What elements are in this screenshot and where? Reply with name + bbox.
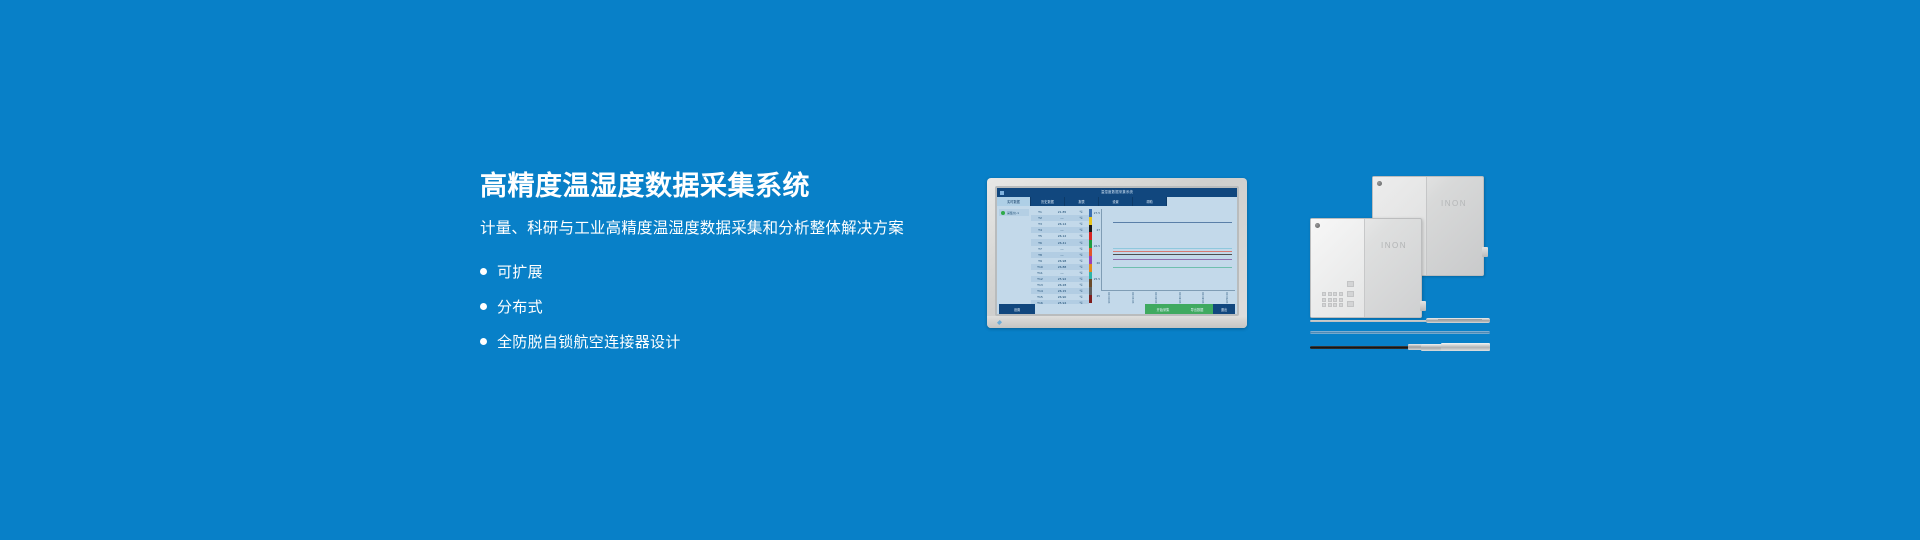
cell-channel: T5 — [1031, 234, 1049, 238]
chart-y-tick-label: 27 — [1096, 228, 1100, 232]
cell-channel: T4 — [1031, 228, 1049, 232]
list-item: 可扩展 — [480, 256, 950, 286]
terminal-cell — [1333, 303, 1337, 307]
cell-value: 26.14 — [1049, 222, 1075, 226]
panel-pc-monitor: 温湿度数据采集系统 实时数据 历史数据 报表 设置 帮助 采集仪-1 — [987, 178, 1247, 328]
terminal-cell — [1328, 303, 1332, 307]
cell-unit: ℃ — [1075, 228, 1087, 232]
port-cell — [1347, 301, 1354, 307]
chart-series-line — [1113, 251, 1233, 252]
cell-channel: T13 — [1031, 283, 1049, 287]
screen-bottom-toolbar: 设置 开始采集 导出数据 退出 — [997, 304, 1237, 314]
chart-y-tick-label: 25 — [1096, 294, 1100, 298]
cell-unit: ℃ — [1075, 234, 1087, 238]
screw-icon — [1315, 223, 1320, 228]
cell-unit: ℃ — [1075, 253, 1087, 257]
feature-label: 全防脱自锁航空连接器设计 — [497, 331, 681, 352]
cell-unit: ℃ — [1075, 271, 1087, 275]
cell-channel: T15 — [1031, 295, 1049, 299]
brand-label: INON — [1381, 241, 1407, 250]
connector-nut — [1421, 344, 1443, 351]
toolbar-spacer — [1035, 304, 1145, 314]
chart-y-tick-label: 25.5 — [1094, 277, 1100, 281]
terminal-cell — [1322, 298, 1326, 302]
cell-value: 26.28 — [1049, 283, 1075, 287]
terminal-cell — [1333, 298, 1337, 302]
status-dot-icon — [1001, 211, 1005, 215]
channel-readout-table: T121.85℃T2---℃T326.14℃T4---℃T526.12℃T626… — [1031, 206, 1089, 304]
cable-ferrule — [1408, 344, 1422, 350]
page-title: 高精度温湿度数据采集系统 — [480, 172, 950, 202]
tab-settings[interactable]: 设置 — [1099, 197, 1133, 206]
cell-unit: ℃ — [1075, 241, 1087, 245]
bullet-dot-icon — [480, 303, 487, 310]
connector-icon — [1482, 247, 1488, 257]
cell-channel: T1 — [1031, 210, 1049, 214]
cell-unit: ℃ — [1075, 265, 1087, 269]
start-acquisition-button[interactable]: 开始采集 — [1145, 304, 1181, 314]
cell-value: 26.15 — [1049, 289, 1075, 293]
cable — [1310, 346, 1412, 349]
screen-title: 温湿度数据采集系统 — [997, 188, 1237, 197]
terminal-cell — [1322, 292, 1326, 296]
feature-list: 可扩展 分布式 全防脱自锁航空连接器设计 — [480, 256, 950, 356]
port-column — [1347, 281, 1354, 307]
chart-x-tick-label: 10:40:00 — [1203, 292, 1206, 304]
screen-titlebar: 温湿度数据采集系统 — [997, 188, 1237, 197]
enclosure-front-panel — [1311, 219, 1365, 317]
cell-channel: T6 — [1031, 241, 1049, 245]
cell-channel: T9 — [1031, 259, 1049, 263]
stainless-temperature-probe — [1310, 318, 1490, 323]
cell-channel: T12 — [1031, 277, 1049, 281]
chart-series-line — [1113, 259, 1233, 260]
chart-plot-area — [1101, 209, 1235, 291]
connector-icon — [1420, 301, 1426, 311]
cell-value: --- — [1049, 216, 1075, 220]
feature-label: 可扩展 — [497, 261, 543, 282]
chart-series-line — [1113, 248, 1233, 249]
terminal-cell — [1339, 292, 1343, 296]
chart-series-line — [1113, 254, 1233, 255]
sidebar-item-collector-1[interactable]: 采集仪-1 — [999, 209, 1029, 216]
screw-icon — [1377, 181, 1382, 186]
page-subtitle: 计量、科研与工业高精度温湿度数据采集和分析整体解决方案 — [480, 220, 950, 239]
cell-unit: ℃ — [1075, 259, 1087, 263]
chart-x-axis: 10:00:0010:10:0010:20:0010:30:0010:40:00… — [1101, 291, 1235, 304]
screen-body: 采集仪-1 T121.85℃T2---℃T326.14℃T4---℃T526.1… — [997, 206, 1237, 304]
cell-value: 21.85 — [1049, 210, 1075, 214]
chart-x-tick-label: 10:50:00 — [1227, 292, 1230, 304]
cell-value: 26.41 — [1049, 241, 1075, 245]
cell-unit: ℃ — [1075, 295, 1087, 299]
cell-value: --- — [1049, 228, 1075, 232]
product-banner: 高精度温湿度数据采集系统 计量、科研与工业高精度温湿度数据采集和分析整体解决方案… — [0, 0, 1920, 540]
bullet-dot-icon — [480, 268, 487, 275]
export-data-button[interactable]: 导出数据 — [1181, 304, 1213, 314]
feature-label: 分布式 — [497, 296, 543, 317]
cell-channel: T2 — [1031, 216, 1049, 220]
tab-realtime-data[interactable]: 实时数据 — [997, 197, 1031, 206]
port-cell — [1347, 281, 1354, 287]
terminal-cell — [1333, 292, 1337, 296]
monitor-bezel: 温湿度数据采集系统 实时数据 历史数据 报表 设置 帮助 采集仪-1 — [995, 186, 1239, 316]
chart-series-line — [1113, 222, 1233, 223]
tab-history-data[interactable]: 历史数据 — [1031, 197, 1065, 206]
data-acquisition-enclosure-front: INON — [1310, 218, 1422, 318]
probe-band — [1438, 319, 1482, 320]
chart-series-line — [1113, 267, 1233, 268]
chart-x-tick-label: 10:00:00 — [1109, 292, 1112, 304]
blue-sensor-cable — [1310, 331, 1490, 334]
settings-button[interactable]: 设置 — [999, 304, 1035, 314]
tab-report[interactable]: 报表 — [1065, 197, 1099, 206]
brand-label: INON — [1441, 199, 1467, 208]
list-item: 全防脱自锁航空连接器设计 — [480, 326, 950, 356]
list-item: 分布式 — [480, 291, 950, 321]
cell-value: 25.92 — [1049, 277, 1075, 281]
cell-value: 26.12 — [1049, 234, 1075, 238]
probe-rod — [1310, 320, 1430, 323]
connector-body — [1441, 343, 1490, 351]
port-cell — [1347, 291, 1354, 297]
monitor-screen: 温湿度数据采集系统 实时数据 历史数据 报表 设置 帮助 采集仪-1 — [997, 188, 1237, 314]
cell-unit: ℃ — [1075, 210, 1087, 214]
sidebar-item-label: 采集仪-1 — [1007, 211, 1019, 215]
cell-channel: T3 — [1031, 222, 1049, 226]
black-cable-with-aviation-connector — [1310, 343, 1490, 351]
banner-text-block: 高精度温湿度数据采集系统 计量、科研与工业高精度温湿度数据采集和分析整体解决方案… — [480, 172, 950, 361]
bullet-dot-icon — [480, 338, 487, 345]
terminal-cell — [1322, 303, 1326, 307]
screen-tabbar: 实时数据 历史数据 报表 设置 帮助 — [997, 197, 1237, 206]
chart-x-tick-label: 10:20:00 — [1156, 292, 1159, 304]
tabbar-filler — [1167, 197, 1237, 206]
chart-x-tick-label: 10:30:00 — [1180, 292, 1183, 304]
terminal-cell — [1328, 298, 1332, 302]
cell-channel: T7 — [1031, 247, 1049, 251]
chart-x-tick-label: 10:10:00 — [1133, 292, 1136, 304]
terminal-cell — [1339, 303, 1343, 307]
cell-channel: T11 — [1031, 271, 1049, 275]
exit-button[interactable]: 退出 — [1213, 304, 1235, 314]
tab-help[interactable]: 帮助 — [1133, 197, 1167, 206]
cell-value: --- — [1049, 247, 1075, 251]
cell-unit: ℃ — [1075, 247, 1087, 251]
cell-value: 26.88 — [1049, 265, 1075, 269]
cell-unit: ℃ — [1075, 222, 1087, 226]
chart-y-axis: 27.52726.52625.525 — [1092, 209, 1101, 304]
cell-value: --- — [1049, 253, 1075, 257]
cell-channel: T8 — [1031, 253, 1049, 257]
cell-value: 26.98 — [1049, 259, 1075, 263]
terminal-cell — [1328, 292, 1332, 296]
chart-y-tick-label: 26.5 — [1094, 244, 1100, 248]
cell-channel: T10 — [1031, 265, 1049, 269]
brand-logo-icon — [997, 320, 1002, 325]
cell-unit: ℃ — [1075, 283, 1087, 287]
cell-unit: ℃ — [1075, 277, 1087, 281]
device-tree-sidebar: 采集仪-1 — [997, 206, 1031, 304]
cell-unit: ℃ — [1075, 289, 1087, 293]
trend-chart: 27.52726.52625.525 10:00:0010:10:0010:20… — [1092, 206, 1237, 304]
monitor-chin — [987, 316, 1247, 328]
cell-value: 26.90 — [1049, 295, 1075, 299]
chart-y-tick-label: 27.5 — [1094, 211, 1100, 215]
cell-unit: ℃ — [1075, 216, 1087, 220]
terminal-cell — [1339, 298, 1343, 302]
cell-channel: T14 — [1031, 289, 1049, 293]
cell-value: --- — [1049, 271, 1075, 275]
chart-y-tick-label: 26 — [1096, 261, 1100, 265]
terminal-block-grid — [1322, 292, 1343, 307]
